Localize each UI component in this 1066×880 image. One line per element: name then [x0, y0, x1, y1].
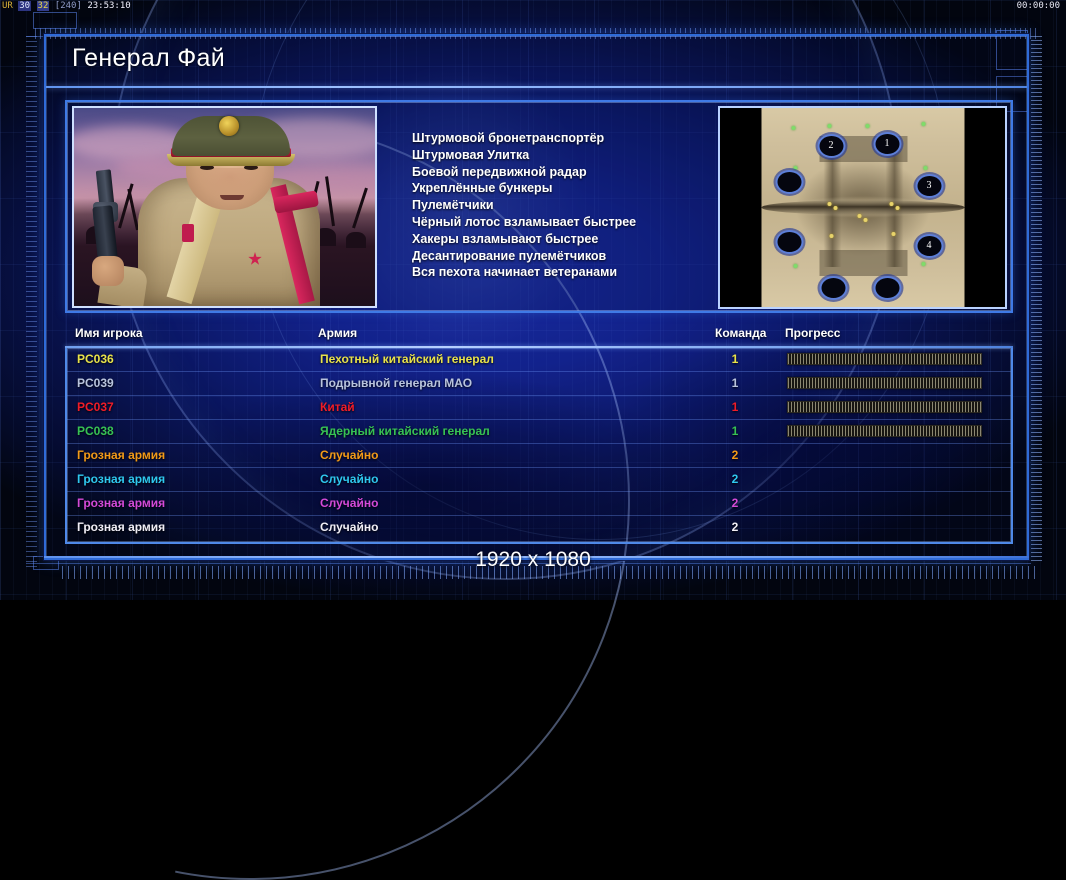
cell-army: Китай [320, 400, 355, 414]
general-hand [92, 256, 124, 286]
general-mouth [220, 195, 244, 200]
minimap-supply-icon [863, 218, 867, 222]
ability-item: Укреплённые бункеры [412, 180, 732, 197]
cell-team: 2 [717, 472, 753, 486]
table-row: PC036Пехотный китайский генерал1 [67, 348, 1011, 372]
ability-item: Вся пехота начинает ветеранами [412, 264, 732, 281]
cell-army: Случайно [320, 472, 378, 486]
minimap-resource-icon [793, 264, 797, 268]
cell-army: Случайно [320, 448, 378, 462]
cell-progress-bar [787, 353, 982, 365]
ability-item: Чёрный лотос взламывает быстрее [412, 214, 732, 231]
header-progress: Прогресс [785, 326, 840, 340]
cell-player-name: PC036 [77, 352, 114, 366]
cell-player-name: Грозная армия [77, 496, 165, 510]
general-medal [182, 224, 194, 242]
minimap-start-position-2: 2 [819, 136, 843, 156]
minimap-river [761, 200, 964, 215]
cell-player-name: PC037 [77, 400, 114, 414]
minimap-start-position-empty-7 [875, 278, 899, 298]
cell-progress-bar [787, 401, 982, 413]
table-row: Грозная армияСлучайно2 [67, 516, 1011, 540]
resolution-label: 1920 x 1080 [0, 548, 1066, 572]
ability-item: Хакеры взламывают быстрее [412, 231, 732, 248]
minimap-resource-icon [793, 166, 797, 170]
header-army: Армия [318, 326, 357, 340]
cell-player-name: PC039 [77, 376, 114, 390]
hud-right-clock: 00:00:00 [1017, 0, 1060, 13]
minimap-resource-icon [921, 262, 925, 266]
general-portrait [72, 106, 377, 308]
player-table-body: PC036Пехотный китайский генерал1PC039Под… [65, 348, 1013, 544]
table-row: Грозная армияСлучайно2 [67, 492, 1011, 516]
cell-team: 2 [717, 448, 753, 462]
minimap-start-position-3: 3 [917, 176, 941, 196]
cell-army: Случайно [320, 520, 378, 534]
cell-team: 1 [717, 376, 753, 390]
hud-left: UR 30 32 [240] 23:53:10 [2, 0, 131, 13]
ability-item: Десантирование пулемётчиков [412, 248, 732, 265]
minimap-supply-icon [891, 232, 895, 236]
cell-army: Случайно [320, 496, 378, 510]
frame-ruler-right [1031, 36, 1042, 564]
minimap-terrain: 2134 [761, 108, 964, 307]
cell-player-name: PC038 [77, 424, 114, 438]
minimap-start-position-4: 4 [917, 236, 941, 256]
hud-clock: 23:53:10 [87, 1, 130, 11]
table-row: PC039Подрывной генерал МАО1 [67, 372, 1011, 396]
minimap-resource-icon [827, 124, 831, 128]
hud-value-3: [240] [55, 1, 82, 11]
hud-label: UR [2, 1, 13, 11]
ability-item: Пулемётчики [412, 197, 732, 214]
cell-player-name: Грозная армия [77, 472, 165, 486]
minimap-start-position-empty-2 [777, 172, 801, 192]
minimap-supply-icon [827, 202, 831, 206]
cell-army: Подрывной генерал МАО [320, 376, 472, 390]
player-table-header: Имя игрока Армия Команда Прогресс [65, 326, 1013, 346]
minimap-supply-icon [829, 234, 833, 238]
minimap-supply-icon [889, 202, 893, 206]
header-player-name: Имя игрока [75, 326, 143, 340]
minimap-supply-icon [895, 206, 899, 210]
ability-item: Штурмовой бронетранспортёр [412, 130, 732, 147]
general-ability-list: Штурмовой бронетранспортёр Штурмовая Ули… [412, 130, 732, 281]
hud-value-1: 30 [18, 1, 31, 11]
general-cheek-shade [186, 168, 274, 210]
cell-player-name: Грозная армия [77, 520, 165, 534]
frame-corner-box-tl [33, 12, 77, 29]
minimap-supply-icon [857, 214, 861, 218]
minimap-start-position-empty-6 [821, 278, 845, 298]
table-row: Грозная армияСлучайно2 [67, 444, 1011, 468]
minimap-resource-icon [923, 166, 927, 170]
player-table: Имя игрока Армия Команда Прогресс PC036П… [65, 326, 1013, 544]
cell-progress-bar [787, 425, 982, 437]
table-row: Грозная армияСлучайно2 [67, 468, 1011, 492]
minimap-preview: 2134 [718, 106, 1007, 309]
cell-army: Ядерный китайский генерал [320, 424, 490, 438]
header-team: Команда [715, 326, 766, 340]
cell-player-name: Грозная армия [77, 448, 165, 462]
soldier-head [346, 232, 366, 248]
table-row: PC037Китай1 [67, 396, 1011, 420]
cell-team: 1 [717, 424, 753, 438]
minimap-supply-icon [833, 206, 837, 210]
minimap-start-position-empty-4 [777, 232, 801, 252]
cell-team: 1 [717, 400, 753, 414]
minimap-resource-icon [921, 122, 925, 126]
frame-ruler-left [26, 36, 37, 568]
ability-item: Боевой передвижной радар [412, 164, 732, 181]
ability-item: Штурмовая Улитка [412, 147, 732, 164]
minimap-resource-icon [791, 126, 795, 130]
minimap-resource-icon [865, 124, 869, 128]
loading-screen-panel: Генерал Фай [44, 34, 1029, 560]
cell-progress-bar [787, 377, 982, 389]
cell-team: 1 [717, 352, 753, 366]
cap-emblem-icon [219, 116, 239, 136]
table-row: PC038Ядерный китайский генерал1 [67, 420, 1011, 444]
hud-value-2: 32 [37, 1, 50, 11]
page-title: Генерал Фай [72, 44, 225, 73]
minimap-start-position-1: 1 [875, 134, 899, 154]
cell-team: 2 [717, 496, 753, 510]
debug-hud: UR 30 32 [240] 23:53:10 00:00:00 [0, 0, 1066, 13]
cell-team: 2 [717, 520, 753, 534]
minimap-terrain-block [819, 250, 907, 276]
cell-army: Пехотный китайский генерал [320, 352, 494, 366]
title-divider [46, 86, 1027, 88]
hero-block: Штурмовой бронетранспортёр Штурмовая Ули… [65, 100, 1013, 313]
